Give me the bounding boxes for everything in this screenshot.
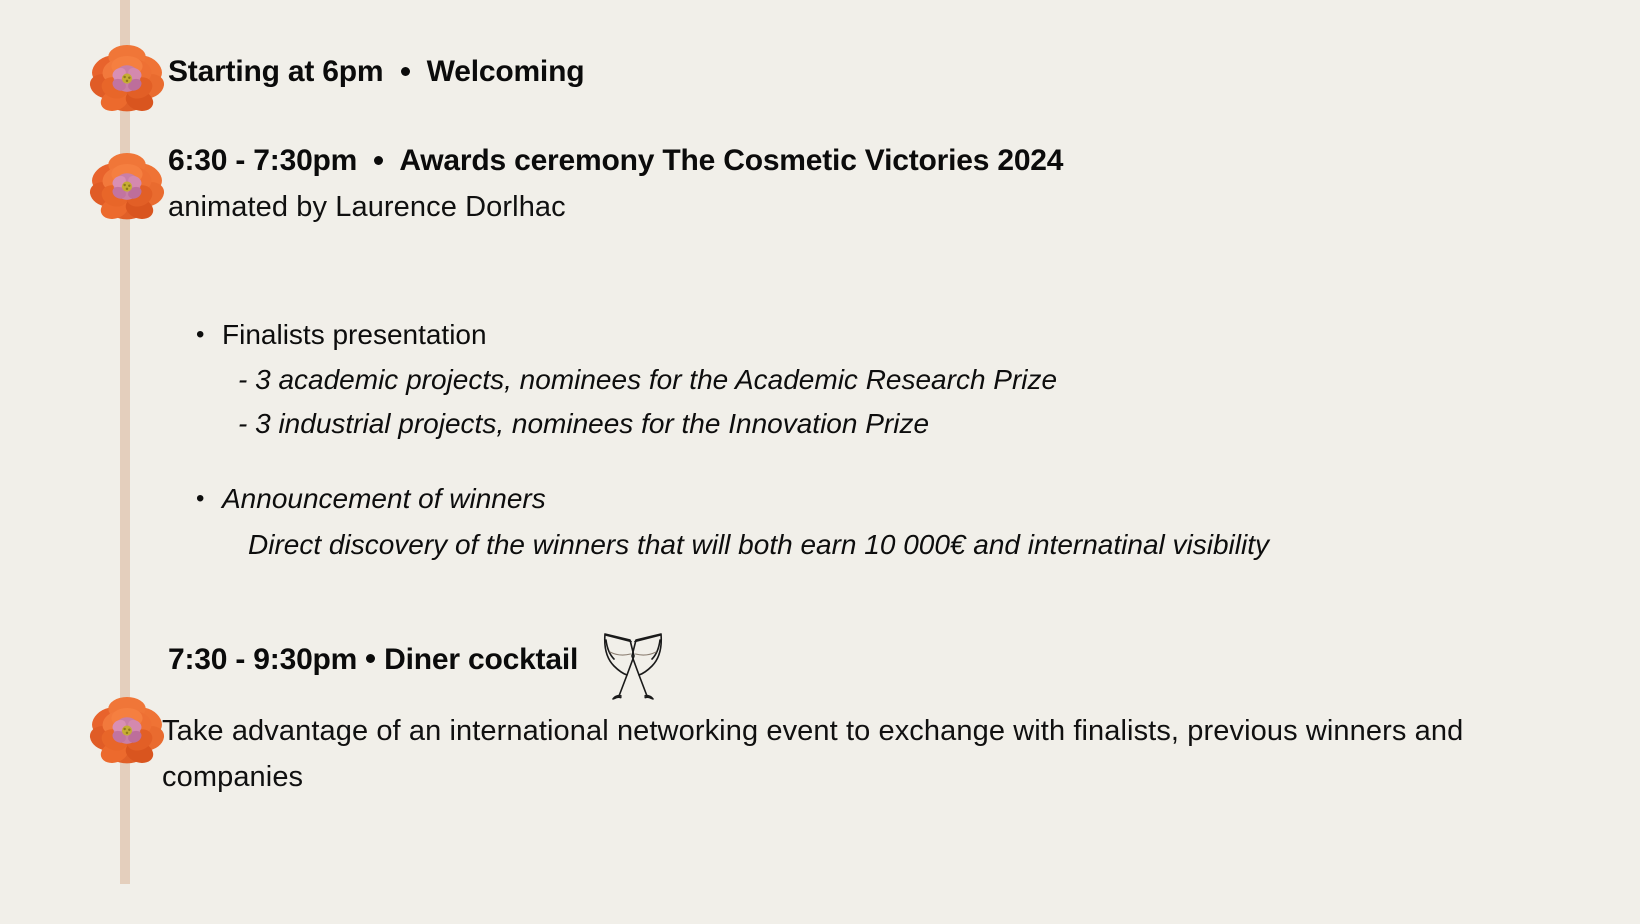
bullet-dot-icon: • [196, 312, 222, 358]
schedule-item-welcome: Starting at 6pm Welcoming [168, 50, 584, 94]
awards-time: 6:30 - 7:30pm [168, 144, 357, 177]
awards-bullet-list: • Finalists presentation - 3 academic pr… [196, 312, 1269, 568]
closing-paragraph: Take advantage of an international netwo… [162, 708, 1562, 800]
sub-list-item: - 3 academic projects, nominees for the … [238, 358, 1269, 402]
bullet-label: Announcement of winners [222, 476, 546, 522]
schedule-item-awards: 6:30 - 7:30pm Awards ceremony The Cosmet… [168, 138, 1063, 230]
welcome-title: Welcoming [427, 55, 585, 88]
flower-icon [88, 38, 166, 116]
diner-title: Diner cocktail [384, 638, 578, 682]
sub-list-item: - 3 industrial projects, nominees for th… [238, 402, 1269, 446]
timeline-poster: Starting at 6pm Welcoming 6:30 - 7:30pm … [0, 0, 1640, 924]
schedule-item-diner: 7:30 - 9:30pm Diner cocktail [168, 622, 676, 698]
bullet-label: Finalists presentation [222, 312, 487, 358]
champagne-glasses-icon [590, 626, 676, 702]
flower-icon [88, 146, 166, 224]
bullet-dot-icon: • [196, 476, 222, 522]
separator-dot-icon [374, 156, 383, 165]
list-item: • Finalists presentation [196, 312, 1269, 358]
awards-title: Awards ceremony The Cosmetic Victories 2… [399, 144, 1063, 177]
awards-subtitle: animated by Laurence Dorlhac [168, 184, 1063, 230]
separator-dot-icon [401, 67, 410, 76]
diner-time: 7:30 - 9:30pm [168, 638, 357, 682]
list-spacer [196, 446, 1269, 476]
bullet-note: Direct discovery of the winners that wil… [248, 522, 1269, 568]
list-item: • Announcement of winners [196, 476, 1269, 522]
welcome-time: Starting at 6pm [168, 55, 383, 88]
separator-dot-icon [366, 654, 375, 663]
flower-icon [88, 690, 166, 768]
